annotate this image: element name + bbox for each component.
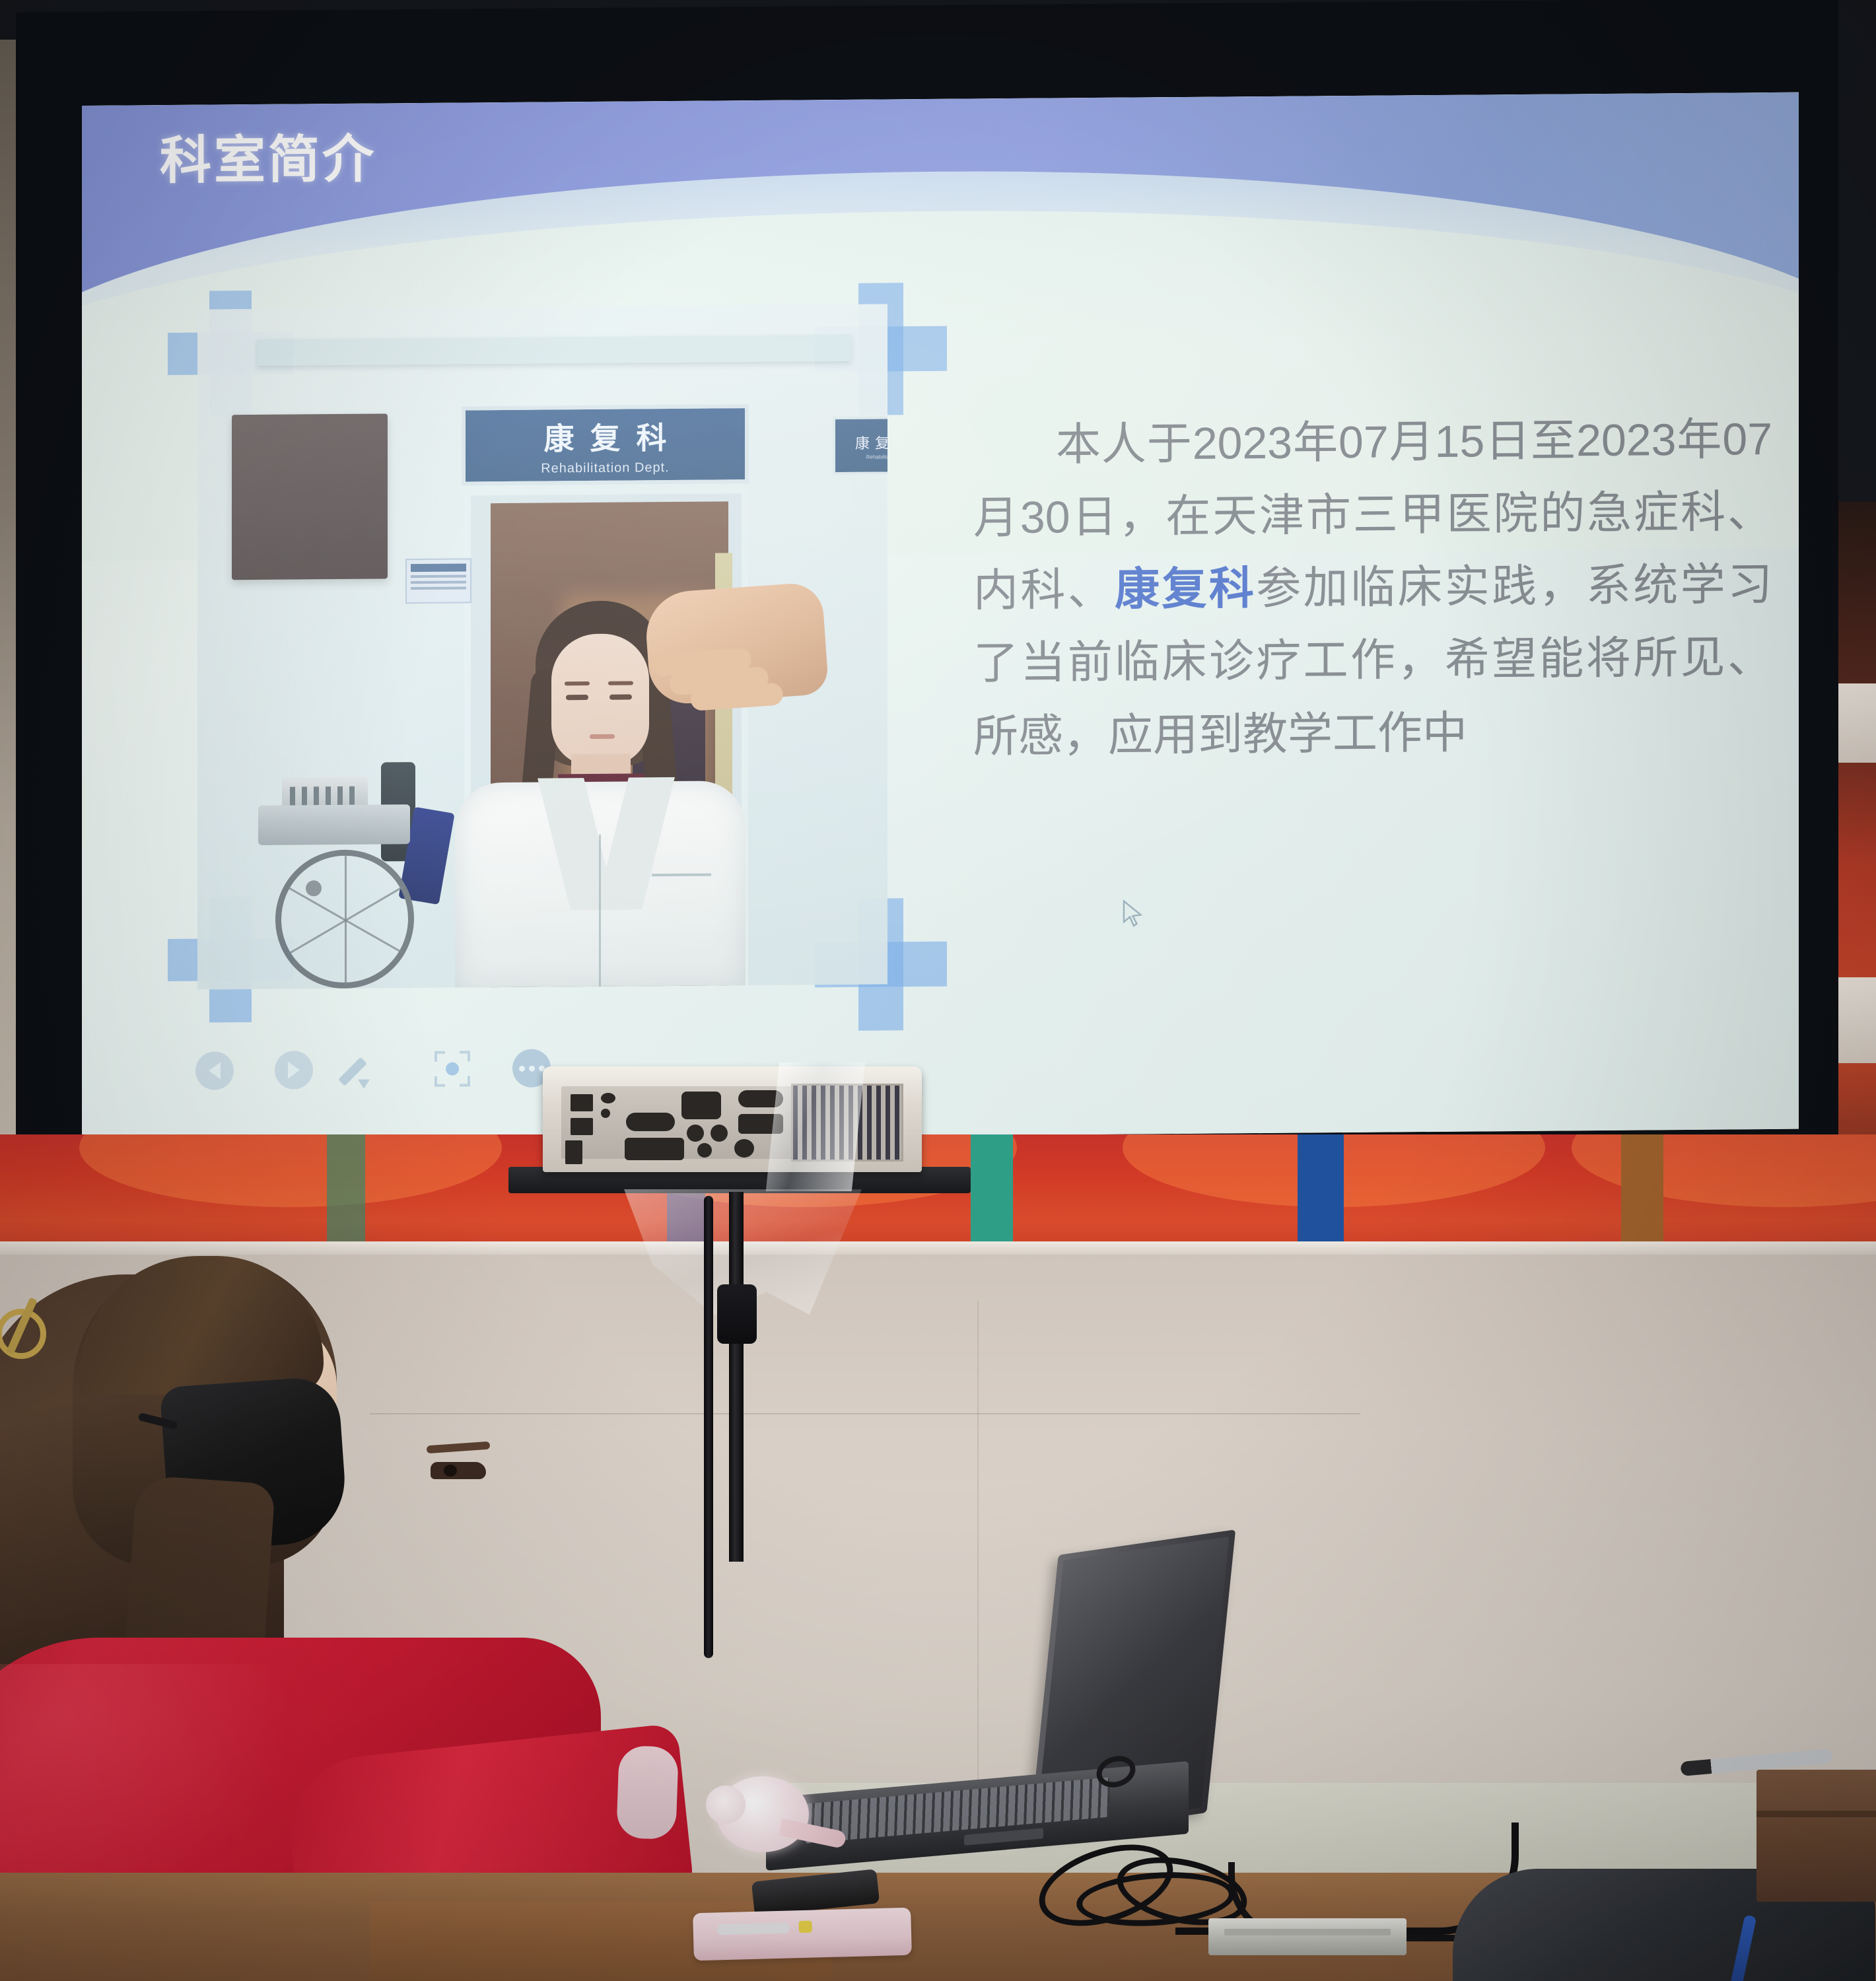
remote-button-yellow[interactable] [798,1921,812,1933]
side-sign-english: Rehabilitation [866,454,887,460]
laptop-cable-loop [1096,1756,1142,1803]
projector-plastic-wrap [766,1062,865,1191]
projection-screen-surface[interactable]: 科室简介 康复科 Rehabilitation Dept. 康 [82,92,1799,1142]
photo-department-sign: 康复科 Rehabilitation Dept. [462,404,749,485]
projector-cable [704,1196,713,1658]
next-slide-icon [275,1051,313,1089]
presenter-sleeve-cuff [616,1745,679,1840]
desk-wooden-box [1756,1770,1876,1902]
projector-stand-pole [729,1192,744,1562]
laser-pointer-button[interactable] [433,1049,471,1088]
previous-slide-icon [195,1051,234,1090]
projector-body [543,1066,922,1172]
side-sign-chinese: 康复科 [850,431,887,453]
previous-slide-button[interactable] [195,1051,234,1090]
presentation-slide[interactable]: 科室简介 康复科 Rehabilitation Dept. 康 [82,92,1799,1142]
photo-wheelchair [249,770,447,989]
slide-body-highlight: 康复科 [1115,563,1256,615]
remote-button-strip[interactable] [717,1923,790,1935]
photo-ceiling-beam [257,335,851,366]
slide-title: 科室简介 [160,118,376,194]
laptop-trackpad[interactable] [964,1828,1043,1845]
pen-tool-button[interactable] [354,1050,392,1088]
photo-side-sign: 康复科 Rehabilitation [833,416,887,475]
department-sign-english: Rehabilitation Dept. [541,460,670,477]
fluffy-pen[interactable] [716,1776,835,1862]
projection-screen-frame: 科室简介 康复科 Rehabilitation Dept. 康 [16,0,1838,1175]
laptop[interactable] [766,1545,1241,1862]
presenter-person [0,1215,674,1981]
department-sign-chinese: 康复科 [528,413,683,458]
pen-icon [357,1053,390,1086]
slide-body-text: 本人于2023年07月15日至2023年07月30日，在天津市三甲医院的急症科、… [973,403,1772,773]
photo-wall-monitor [232,413,388,580]
mouse-cursor-icon [1122,899,1146,930]
pink-presenter-remote[interactable] [693,1908,912,1961]
desk-silver-plate [1208,1918,1407,1955]
presentation-control-bar[interactable] [195,1049,551,1090]
photo-notice-board [405,558,471,604]
fluffy-pen-puff [716,1776,809,1852]
projector-stand-clamp [717,1284,757,1344]
presenter-hand [643,582,829,706]
next-slide-button[interactable] [275,1051,313,1089]
laser-pointer-icon [434,1051,470,1086]
screenshot-root: 科室简介 康复科 Rehabilitation Dept. 康 [0,0,1876,1981]
